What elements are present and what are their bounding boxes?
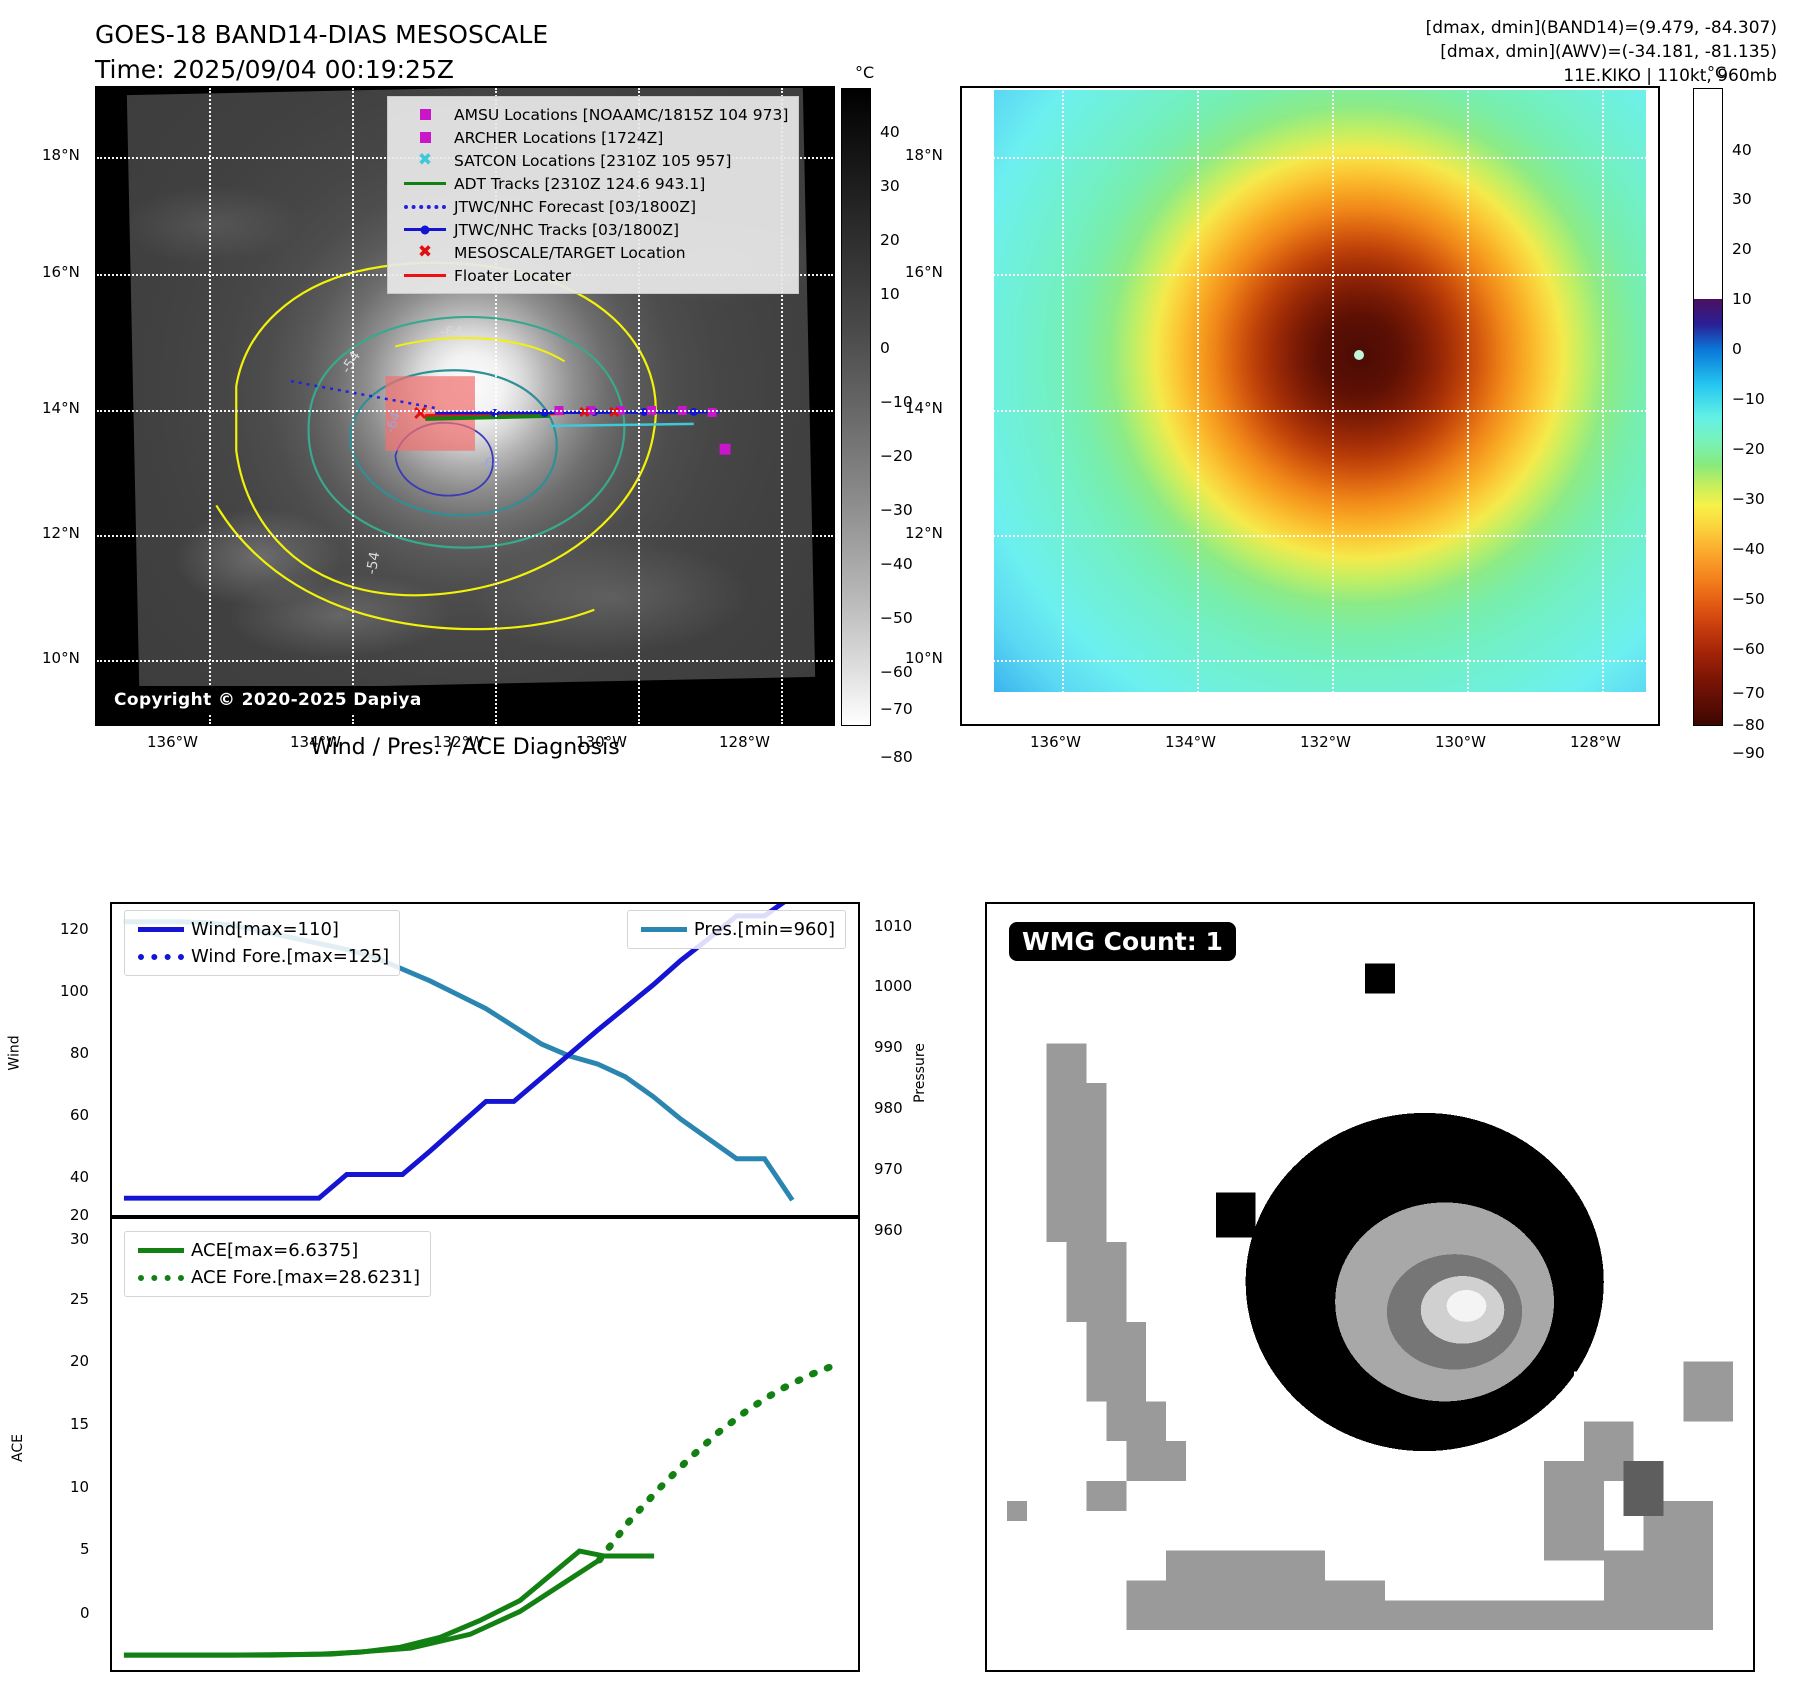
svg-text:-64: -64 — [480, 457, 501, 472]
map-legend: AMSU Locations [NOAAMC/1815Z 104 973] AR… — [387, 96, 799, 294]
legend-label: Wind[max=110] — [191, 919, 339, 940]
storm-eye-marker — [1354, 350, 1364, 360]
awv-colorbar-gradient — [1693, 88, 1723, 726]
page-title: GOES-18 BAND14-DIAS MESOSCALE Time: 2025… — [95, 18, 548, 87]
ace-forecast-dotted-icon — [131, 1275, 191, 1281]
legend-item-pressure[interactable]: Pres.[min=960] — [634, 916, 835, 943]
legend-item-forecast[interactable]: JTWC/NHC Forecast [03/1800Z] — [396, 195, 788, 218]
legend-item-adt[interactable]: ADT Tracks [2310Z 124.6 943.1] — [396, 172, 788, 195]
ace-chart[interactable]: ACE[max=6.6375] ACE Fore.[max=28.6231] — [110, 1217, 860, 1672]
svg-text:-64: -64 — [440, 324, 463, 340]
wind-forecast-dotted-icon — [131, 954, 191, 960]
wind-legend: Wind[max=110] Wind Fore.[max=125] — [124, 910, 400, 976]
legend-item-satcon[interactable]: ✖ SATCON Locations [2310Z 105 957] — [396, 149, 788, 172]
legend-label: ACE[max=6.6375] — [191, 1240, 358, 1261]
legend-label: Floater Locater — [454, 267, 571, 285]
svg-text:-54: -54 — [338, 348, 364, 376]
ace-solid-icon — [131, 1248, 191, 1253]
title-line-2: Time: 2025/09/04 00:19:25Z — [95, 53, 548, 88]
legend-label: ADT Tracks [2310Z 124.6 943.1] — [454, 175, 705, 193]
awv-colorbar-unit: °C — [1707, 63, 1726, 82]
legend-item-floater[interactable]: Floater Locater — [396, 264, 788, 287]
legend-label: JTWC/NHC Forecast [03/1800Z] — [454, 198, 696, 216]
awv-satellite-panel[interactable] — [960, 86, 1660, 726]
legend-item-ace[interactable]: ACE[max=6.6375] — [131, 1237, 420, 1264]
svg-text:-54: -54 — [364, 550, 384, 575]
wmg-panel[interactable]: WMG Count: 1 — [985, 902, 1755, 1672]
ir-satellite-panel[interactable]: -64 -54 -64 -64 -54 Copyright © 2020-202… — [95, 86, 835, 726]
legend-item-wind[interactable]: Wind[max=110] — [131, 916, 389, 943]
pressure-solid-icon — [634, 927, 694, 932]
forecast-dotted-icon — [396, 205, 454, 209]
legend-label: ARCHER Locations [1724Z] — [454, 129, 663, 147]
legend-label: AMSU Locations [NOAAMC/1815Z 104 973] — [454, 106, 788, 124]
floater-line-icon — [396, 274, 454, 278]
legend-label: MESOSCALE/TARGET Location — [454, 244, 686, 262]
ir-colorbar-unit: °C — [855, 63, 874, 82]
legend-label: SATCON Locations [2310Z 105 957] — [454, 152, 731, 170]
wmg-count-badge: WMG Count: 1 — [1009, 922, 1236, 961]
dashboard-root: GOES-18 BAND14-DIAS MESOSCALE Time: 2025… — [0, 0, 1797, 1690]
amsu-square-icon — [396, 109, 454, 120]
pressure-legend: Pres.[min=960] — [627, 910, 846, 949]
legend-label: Pres.[min=960] — [694, 919, 835, 940]
legend-label: JTWC/NHC Tracks [03/1800Z] — [454, 221, 679, 239]
legend-label: Wind Fore.[max=125] — [191, 946, 389, 967]
legend-label: ACE Fore.[max=28.6231] — [191, 1267, 420, 1288]
adt-line-icon — [396, 182, 454, 186]
diagnosis-title: Wind / Pres. / ACE Diagnosis — [95, 735, 835, 760]
legend-item-amsu[interactable]: AMSU Locations [NOAAMC/1815Z 104 973] — [396, 103, 788, 126]
mesoscale-x-icon: ✖ — [396, 244, 454, 261]
archer-square-icon — [396, 132, 454, 143]
wind-axis-title: Wind — [7, 1035, 23, 1070]
wmg-mask-plot — [987, 904, 1753, 1670]
satcon-x-icon: ✖ — [396, 152, 454, 169]
ace-axis-title: ACE — [10, 1434, 26, 1462]
ir-colorbar-gradient — [841, 88, 871, 726]
legend-item-mesoscale[interactable]: ✖ MESOSCALE/TARGET Location — [396, 241, 788, 264]
wind-pressure-chart[interactable]: Wind[max=110] Wind Fore.[max=125] Pres.[… — [110, 902, 860, 1217]
wind-solid-icon — [131, 927, 191, 932]
ace-legend: ACE[max=6.6375] ACE Fore.[max=28.6231] — [124, 1231, 431, 1297]
legend-item-ace-forecast[interactable]: ACE Fore.[max=28.6231] — [131, 1264, 420, 1291]
legend-item-tracks[interactable]: JTWC/NHC Tracks [03/1800Z] — [396, 218, 788, 241]
pressure-axis-title: Pressure — [912, 1043, 928, 1103]
awv-imagery — [994, 90, 1646, 692]
legend-item-wind-forecast[interactable]: Wind Fore.[max=125] — [131, 943, 389, 970]
copyright-badge: Copyright © 2020-2025 Dapiya — [105, 686, 431, 714]
tracks-line-dot-icon — [396, 228, 454, 231]
dmax-dmin-awv: [dmax, dmin](AWV)=(-34.181, -81.135) — [1426, 40, 1777, 64]
dmax-dmin-band14: [dmax, dmin](BAND14)=(9.479, -84.307) — [1426, 16, 1777, 40]
legend-item-archer[interactable]: ARCHER Locations [1724Z] — [396, 126, 788, 149]
title-line-1: GOES-18 BAND14-DIAS MESOSCALE — [95, 18, 548, 53]
